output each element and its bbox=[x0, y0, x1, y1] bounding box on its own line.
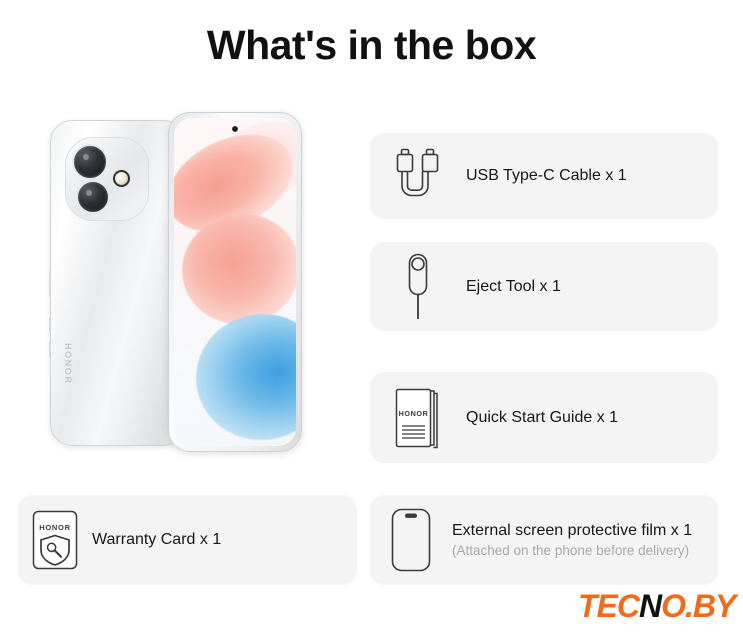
usb-type-c-cable-icon bbox=[370, 148, 466, 204]
whats-in-the-box-panel: What's in the box HONOR Phone(Built-i bbox=[0, 0, 743, 640]
quick-start-guide-icon: HONOR bbox=[370, 386, 466, 450]
item-card-screen-protective-film: External screen protective film x 1 (Att… bbox=[370, 495, 718, 585]
phone-front-view bbox=[168, 112, 302, 452]
phone-product-image: HONOR Phone(Built-in battery) x 1 bbox=[20, 112, 320, 452]
watermark-part2: O.BY bbox=[661, 588, 735, 624]
item-card-eject-tool: Eject Tool x 1 bbox=[370, 242, 718, 331]
phone-back-view: HONOR bbox=[50, 120, 185, 446]
camera-flash-icon bbox=[113, 170, 130, 187]
camera-island bbox=[65, 137, 149, 221]
svg-text:HONOR: HONOR bbox=[39, 523, 70, 532]
warranty-card-icon: HONOR bbox=[18, 509, 92, 571]
front-camera-punch-hole-icon bbox=[232, 126, 238, 132]
camera-lens-primary-icon bbox=[72, 144, 108, 180]
screen-protective-film-icon bbox=[370, 507, 452, 573]
item-label: External screen protective film x 1 bbox=[452, 522, 692, 540]
item-label: Warranty Card x 1 bbox=[92, 531, 221, 549]
watermark-bolt-letter: N bbox=[639, 588, 661, 624]
item-label: Eject Tool x 1 bbox=[466, 278, 561, 296]
phone-screen-wallpaper bbox=[174, 118, 296, 446]
page-title: What's in the box bbox=[0, 22, 743, 69]
item-label: Quick Start Guide x 1 bbox=[466, 409, 618, 427]
power-button-graphic bbox=[49, 271, 51, 297]
watermark-part1: TEC bbox=[578, 588, 639, 624]
svg-text:HONOR: HONOR bbox=[399, 409, 429, 418]
volume-up-button-graphic bbox=[49, 317, 51, 333]
item-card-usb-cable: USB Type-C Cable x 1 bbox=[370, 133, 718, 219]
honor-logo-back: HONOR bbox=[63, 343, 73, 385]
wallpaper-blob-blue bbox=[188, 305, 296, 446]
item-card-warranty-card: HONOR Warranty Card x 1 bbox=[18, 495, 357, 585]
volume-down-button-graphic bbox=[49, 341, 51, 357]
eject-tool-icon bbox=[370, 253, 466, 321]
tecno-by-watermark: TECNO.BY bbox=[578, 588, 735, 625]
item-sublabel: (Attached on the phone before delivery) bbox=[452, 543, 692, 558]
item-label: USB Type-C Cable x 1 bbox=[466, 167, 627, 185]
item-card-quick-start-guide: HONOR Quick Start Guide x 1 bbox=[370, 372, 718, 463]
camera-lens-secondary-icon bbox=[76, 180, 110, 214]
